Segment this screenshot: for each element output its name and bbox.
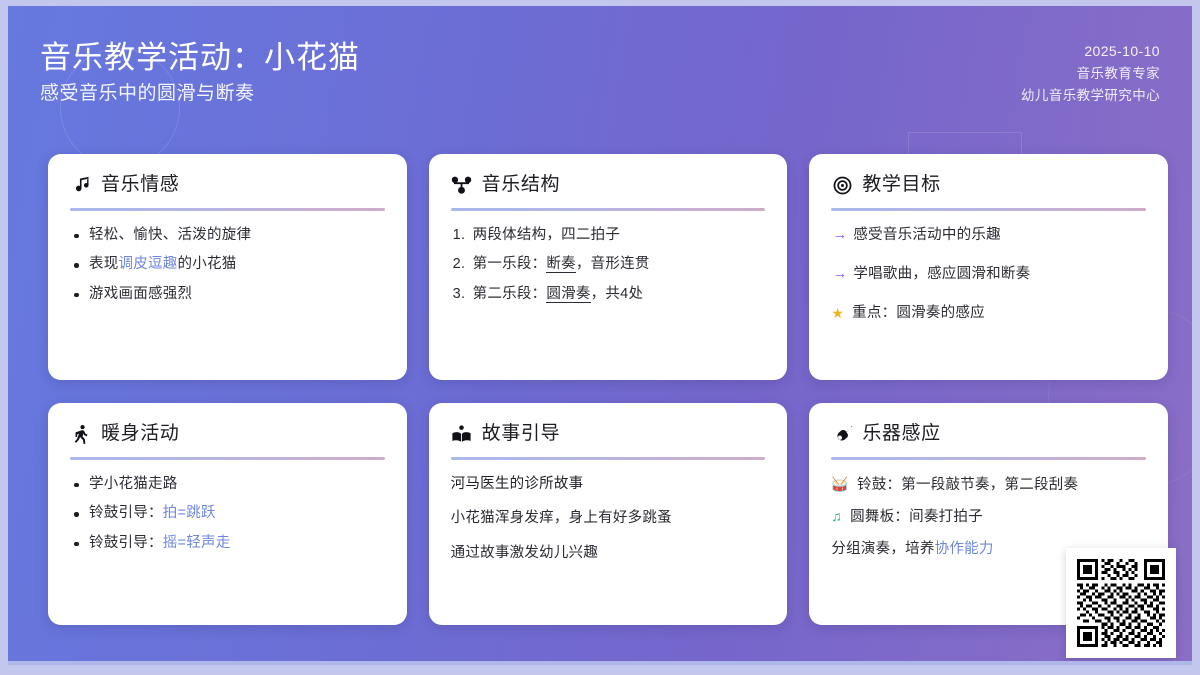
target-icon [831,174,853,196]
paragraph: 河马医生的诊所故事 [451,473,766,495]
emphasis-text: 拍=跳跃 [163,505,216,521]
key-point-text: 重点：圆滑奏的感应 [852,302,985,325]
list-item: 两段体结构，四二拍子 [451,224,766,247]
emphasis-text: 摇=轻声走 [163,535,231,551]
card-list: 学小花猫走路铃鼓引导：拍=跳跃铃鼓引导：摇=轻声走 [70,473,385,555]
text-fragment: 小花猫浑身发痒，身上有好多跳蚤 [451,510,672,526]
card-divider [451,457,766,460]
card-title: 故事引导 [482,423,560,446]
text-fragment: 游戏画面感强烈 [89,286,192,302]
card-title: 音乐结构 [482,174,560,197]
star-icon: ★ [831,302,844,324]
list-item: 轻松、愉快、活泼的旋律 [70,224,385,247]
qr-code-icon [1077,559,1165,647]
text-fragment: 第二乐段： [473,286,547,302]
text-fragment: 学唱歌曲，感应圆滑和断奏 [853,266,1030,282]
key-point-row: ★重点：圆滑奏的感应 [831,302,1146,325]
list-item: 第二乐段：圆滑奏，共4处 [451,283,766,306]
list-item: 第一乐段：断奏，音形连贯 [451,253,766,276]
list-item: 学小花猫走路 [70,473,385,496]
text-fragment: 第一乐段： [473,256,547,272]
emphasis-text: 调皮逗趣 [119,256,178,272]
list-item: →学唱歌曲，感应圆滑和断奏 [831,263,1146,286]
text-fragment: 铃鼓引导： [89,505,163,521]
list-item: 游戏画面感强烈 [70,283,385,306]
emphasis-text: 协作能力 [935,541,994,557]
list-item: ♫圆舞板：间奏打拍子 [831,505,1146,529]
card-title: 暖身活动 [101,423,179,446]
card-body: →感受音乐活动中的乐趣→学唱歌曲，感应圆滑和断奏★重点：圆滑奏的感应 [829,224,1148,326]
card-header: 音乐结构 [449,174,768,197]
list-item-text: 圆舞板：间奏打拍子 [850,506,983,529]
card-body: 两段体结构，四二拍子第一乐段：断奏，音形连贯第二乐段：圆滑奏，共4处 [449,224,768,306]
card-body: 河马医生的诊所故事小花猫浑身发痒，身上有好多跳蚤通过故事激发幼儿兴趣 [449,473,768,564]
card-warmup-activity: 暖身活动学小花猫走路铃鼓引导：拍=跳跃铃鼓引导：摇=轻声走 [48,403,407,625]
text-fragment: 铃鼓引导： [89,535,163,551]
text-fragment: 感受音乐活动中的乐趣 [853,227,1001,243]
card-header: 音乐情感 [68,174,387,197]
card-divider [70,208,385,211]
header-meta: 2025-10-10 音乐教育专家 幼儿音乐教学研究中心 [1021,38,1160,108]
paragraph: 通过故事激发幼儿兴趣 [451,542,766,564]
guitar-icon [831,423,853,445]
card-list: 两段体结构，四二拍子第一乐段：断奏，音形连贯第二乐段：圆滑奏，共4处 [451,224,766,306]
list-item: 铃鼓引导：摇=轻声走 [70,532,385,555]
slide-header: 音乐教学活动：小花猫 感受音乐中的圆滑与断奏 2025-10-10 音乐教育专家… [8,6,1192,136]
emphasis-text: 圆滑奏 [546,286,590,303]
text-fragment: ，共4处 [591,286,644,302]
card-divider [831,457,1146,460]
card-header: 暖身活动 [68,423,387,446]
header-left: 音乐教学活动：小花猫 感受音乐中的圆滑与断奏 [40,38,360,106]
music-notes-icon [70,174,92,196]
card-music-structure: 音乐结构两段体结构，四二拍子第一乐段：断奏，音形连贯第二乐段：圆滑奏，共4处 [429,154,788,380]
list-item: 表现调皮逗趣的小花猫 [70,253,385,276]
card-list: 轻松、愉快、活泼的旋律表现调皮逗趣的小花猫游戏画面感强烈 [70,224,385,306]
card-header: 教学目标 [829,174,1148,197]
list-item: 铃鼓引导：拍=跳跃 [70,502,385,525]
text-fragment: 表现 [89,256,119,272]
card-divider [451,208,766,211]
walking-person-icon [70,423,92,445]
arrow-right-icon: → [832,262,847,286]
card-teaching-goals: 教学目标→感受音乐活动中的乐趣→学唱歌曲，感应圆滑和断奏★重点：圆滑奏的感应 [809,154,1168,380]
card-list: →感受音乐活动中的乐趣→学唱歌曲，感应圆滑和断奏 [831,224,1146,286]
page-subtitle: 感受音乐中的圆滑与断奏 [40,82,360,107]
qr-code-panel[interactable] [1066,548,1176,658]
header-date: 2025-10-10 [1021,40,1160,63]
sitemap-icon [451,174,473,196]
card-title: 乐器感应 [862,423,940,446]
arrow-right-icon: → [832,223,847,247]
text-fragment: 通过故事激发幼儿兴趣 [451,545,599,561]
card-grid: 音乐情感轻松、愉快、活泼的旋律表现调皮逗趣的小花猫游戏画面感强烈音乐结构两段体结… [48,154,1168,625]
text-fragment: 河马医生的诊所故事 [451,476,584,492]
text-fragment: 圆舞板：间奏打拍子 [850,509,983,525]
header-organization: 幼儿音乐教学研究中心 [1021,85,1160,107]
emphasis-text: 断奏 [546,256,576,273]
card-body: 学小花猫走路铃鼓引导：拍=跳跃铃鼓引导：摇=轻声走 [68,473,387,555]
card-header: 故事引导 [449,423,768,446]
page-title: 音乐教学活动：小花猫 [40,38,360,78]
text-fragment: ，音形连贯 [576,256,650,272]
text-fragment: 的小花猫 [178,256,237,272]
header-author: 音乐教育专家 [1021,63,1160,85]
card-body: 轻松、愉快、活泼的旋律表现调皮逗趣的小花猫游戏画面感强烈 [68,224,387,306]
text-fragment: 学小花猫走路 [89,476,178,492]
card-title: 教学目标 [862,174,940,197]
card-story-intro: 故事引导河马医生的诊所故事小花猫浑身发痒，身上有好多跳蚤通过故事激发幼儿兴趣 [429,403,788,625]
open-book-icon [451,423,473,445]
music-note-icon: ♫ [831,505,842,528]
text-fragment: 分组演奏，培养 [831,541,934,557]
slide-frame: 音乐教学活动：小花猫 感受音乐中的圆滑与断奏 2025-10-10 音乐教育专家… [0,0,1200,675]
card-header: 乐器感应 [829,423,1148,446]
list-item-text: 铃鼓：第一段敲节奏，第二段刮奏 [857,474,1078,497]
list-item: 🥁铃鼓：第一段敲节奏，第二段刮奏 [831,473,1146,497]
card-divider [70,457,385,460]
drum-icon: 🥁 [831,473,849,496]
list-item: →感受音乐活动中的乐趣 [831,224,1146,247]
card-divider [831,208,1146,211]
text-fragment: 两段体结构，四二拍子 [473,227,621,243]
bottom-accent-strip [8,661,1192,665]
card-title: 音乐情感 [101,174,179,197]
text-fragment: 铃鼓：第一段敲节奏，第二段刮奏 [857,477,1078,493]
paragraph: 小花猫浑身发痒，身上有好多跳蚤 [451,507,766,529]
text-fragment: 轻松、愉快、活泼的旋律 [89,227,251,243]
slide: 音乐教学活动：小花猫 感受音乐中的圆滑与断奏 2025-10-10 音乐教育专家… [8,6,1192,665]
card-music-emotion: 音乐情感轻松、愉快、活泼的旋律表现调皮逗趣的小花猫游戏画面感强烈 [48,154,407,380]
